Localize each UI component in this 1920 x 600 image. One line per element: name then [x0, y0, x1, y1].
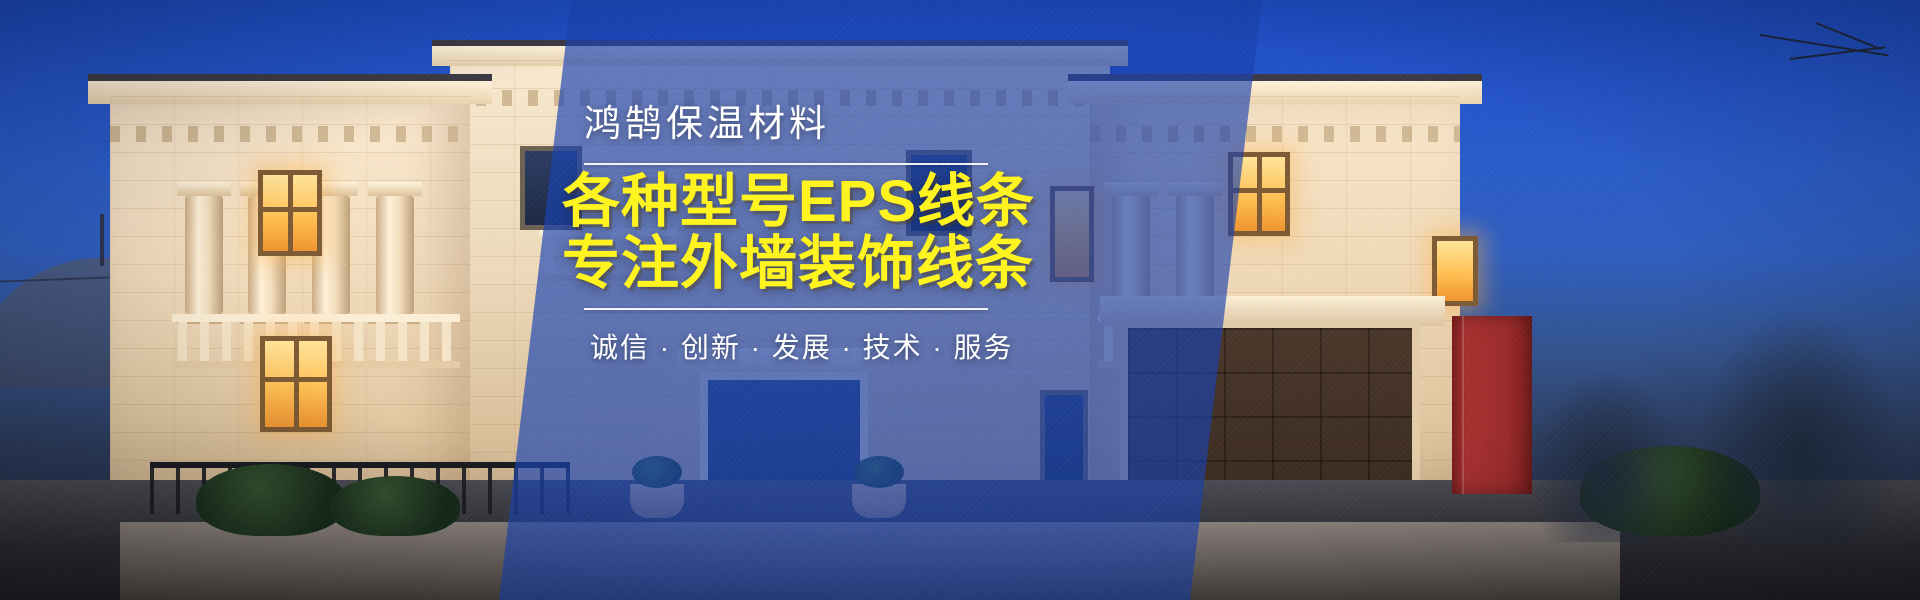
shrub	[196, 464, 346, 536]
tagline: 诚信 · 创新 · 发展 · 技术 · 服务	[562, 326, 1022, 366]
divider-top	[584, 163, 988, 165]
left-dentils	[110, 126, 470, 142]
window-transom	[1233, 188, 1285, 193]
red-panel	[1452, 316, 1532, 494]
brand-name: 鸿鹄保温材料	[562, 104, 1022, 145]
column	[376, 196, 414, 314]
window-mullion	[294, 341, 299, 427]
headline: 各种型号EPS线条 专注外墙装饰线条	[562, 171, 1022, 296]
banner-text-block: 鸿鹄保温材料 各种型号EPS线条 专注外墙装饰线条 诚信 · 创新 · 发展 ·…	[562, 104, 1022, 366]
lit-window	[258, 170, 322, 256]
hero-banner: 鸿鹄保温材料 各种型号EPS线条 专注外墙装饰线条 诚信 · 创新 · 发展 ·…	[0, 0, 1920, 600]
headline-line-1: 各种型号EPS线条	[562, 171, 1022, 234]
left-cornice	[88, 74, 492, 104]
tree	[1700, 312, 1900, 542]
divider-bottom	[584, 308, 988, 310]
window-mullion	[288, 175, 293, 251]
headline-line-2: 专注外墙装饰线条	[562, 233, 1022, 296]
window-transom	[265, 377, 327, 382]
shrub	[330, 476, 460, 536]
window-transom	[263, 207, 317, 212]
distant-spire	[100, 214, 104, 266]
lit-window	[260, 336, 332, 432]
column	[185, 196, 223, 314]
tree	[1530, 372, 1680, 542]
window-mullion	[1257, 157, 1262, 231]
